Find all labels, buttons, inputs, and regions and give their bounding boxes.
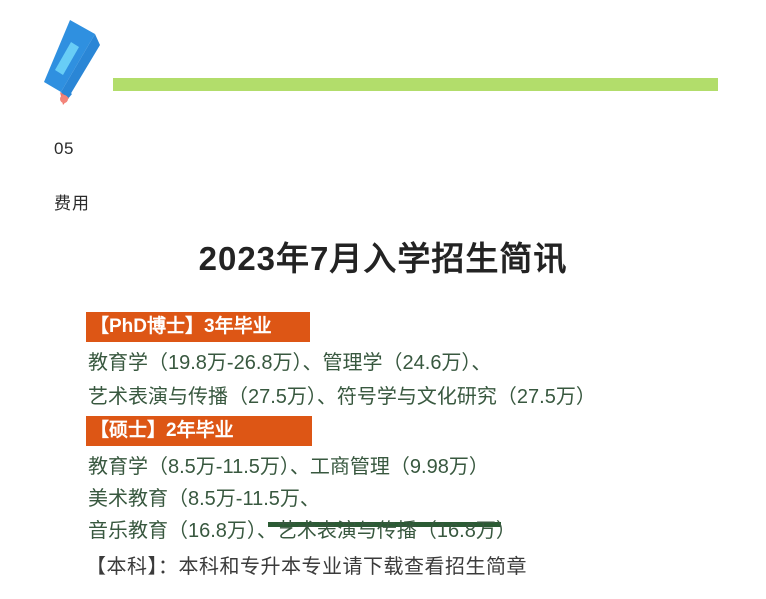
degree-badge-phd: 【PhD博士】3年毕业 (86, 312, 310, 342)
header-decoration (0, 0, 766, 120)
undergraduate-note: 【本科】：本科和专升本专业请下载查看招生简章 (86, 552, 527, 582)
program-line-master-3: 音乐教育（16.8万）、艺术表演与传播（16.8万） (88, 516, 516, 546)
program-line-master-2: 美术教育（8.5万-11.5万、 (88, 484, 320, 514)
program-line-phd-2: 艺术表演与传播（27.5万）、符号学与文化研究（27.5万） (88, 382, 596, 412)
poster-title: 2023年7月入学招生简讯 (199, 236, 568, 282)
pencil-icon (38, 14, 138, 106)
section-index-number: 05 (54, 138, 74, 160)
poster-title-container: 2023年7月入学招生简讯 (0, 236, 766, 282)
admissions-poster: 2023年7月入学招生简讯 【PhD博士】3年毕业 教育学（19.8万-26.8… (0, 236, 766, 599)
degree-badge-master: 【硕士】2年毕业 (86, 416, 312, 446)
program-line-master-1: 教育学（8.5万-11.5万）、工商管理（9.98万） (88, 452, 489, 482)
program-line-phd-1: 教育学（19.8万-26.8万）、管理学（24.6万）、 (88, 348, 491, 378)
section-title: 费用 (54, 192, 90, 216)
green-rule-divider (113, 78, 718, 91)
